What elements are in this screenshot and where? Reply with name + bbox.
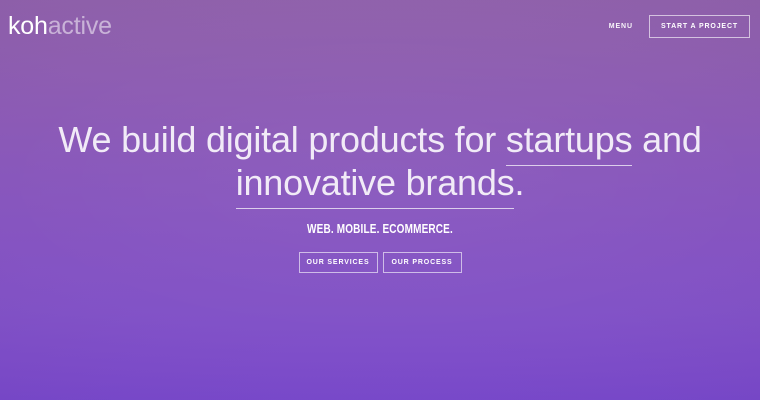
our-process-button[interactable]: OUR PROCESS: [383, 252, 462, 273]
hero-subtitle: WEB. MOBILE. ECOMMERCE.: [76, 222, 684, 236]
headline-link-startups[interactable]: startups: [506, 119, 632, 166]
logo-text-primary: koh: [8, 12, 48, 40]
menu-button[interactable]: MENU: [607, 19, 635, 34]
hero-headline: We build digital products for startups a…: [0, 118, 760, 204]
headline-line-2: innovative brands.: [236, 162, 525, 209]
start-a-project-button[interactable]: START A PROJECT: [649, 15, 750, 38]
header-nav: MENU START A PROJECT: [607, 15, 750, 38]
hero-section: kohactive MENU START A PROJECT We build …: [0, 0, 760, 400]
site-logo[interactable]: kohactive: [8, 14, 112, 39]
headline-text-b: and: [632, 119, 701, 160]
hero-content: We build digital products for startups a…: [0, 118, 760, 273]
our-services-button[interactable]: OUR SERVICES: [299, 252, 378, 273]
headline-line-1: We build digital products for startups a…: [58, 119, 701, 166]
headline-period: .: [514, 162, 524, 203]
headline-text-a: We build digital products for: [58, 119, 506, 160]
site-header: kohactive MENU START A PROJECT: [0, 0, 760, 52]
headline-link-innovative-brands[interactable]: innovative brands: [236, 162, 515, 209]
logo-text-secondary: active: [48, 12, 112, 40]
hero-cta-row: OUR SERVICES OUR PROCESS: [0, 252, 760, 273]
